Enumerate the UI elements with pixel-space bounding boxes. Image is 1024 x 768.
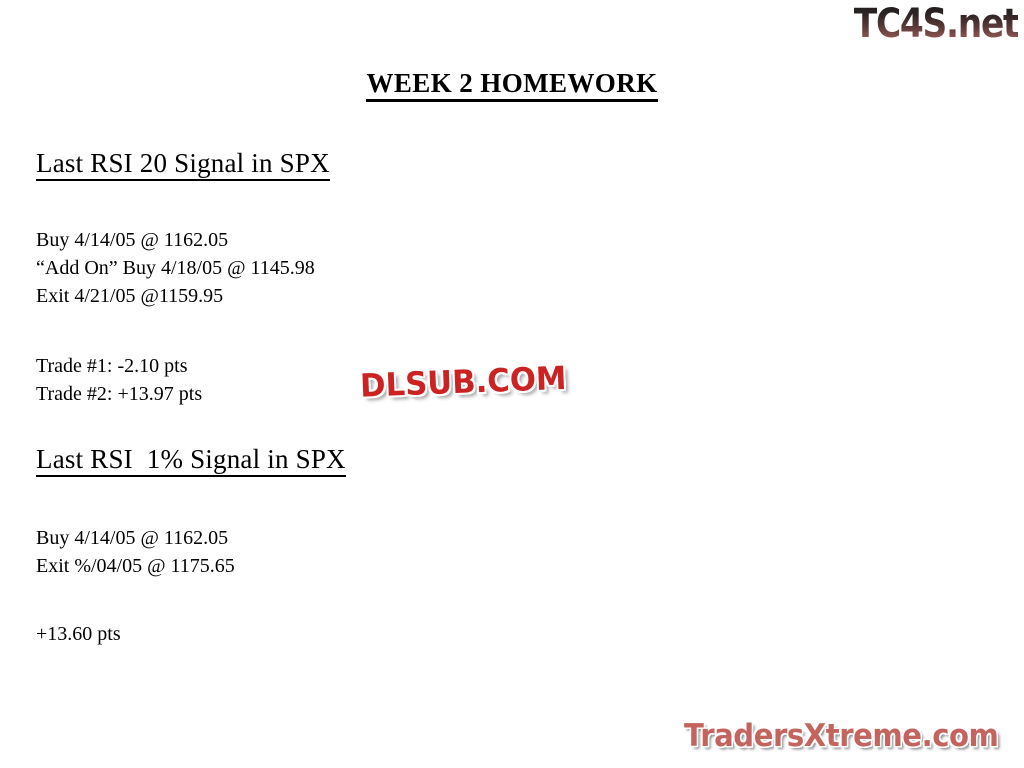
trade-line: Exit %/04/05 @ 1175.65: [36, 552, 235, 580]
page-title-text: WEEK 2 HOMEWORK: [366, 68, 657, 102]
page-title: WEEK 2 HOMEWORK: [0, 68, 1024, 99]
result-list-rsi-20: Trade #1: -2.10 ptsTrade #2: +13.97 pts: [36, 352, 202, 408]
slide-canvas: TC4S.net WEEK 2 HOMEWORK Last RSI 20 Sig…: [0, 0, 1024, 768]
section-heading-rsi-20-text: Last RSI 20 Signal in SPX: [36, 148, 330, 181]
site-logo-text: TradersXtreme.com: [684, 714, 1000, 758]
trade-list-rsi-20: Buy 4/14/05 @ 1162.05“Add On” Buy 4/18/0…: [36, 226, 315, 310]
result-line: Trade #1: -2.10 pts: [36, 352, 202, 380]
watermark-text: DLSUB.COM: [359, 354, 646, 407]
watermark-dlsub: DLSUB.COM: [359, 353, 658, 406]
site-logo-tradersxtreme: TradersXtreme.com: [684, 714, 1020, 758]
trade-line: Buy 4/14/05 @ 1162.05: [36, 524, 235, 552]
trade-list-rsi-1pct: Buy 4/14/05 @ 1162.05Exit %/04/05 @ 1175…: [36, 524, 235, 580]
trade-line: “Add On” Buy 4/18/05 @ 1145.98: [36, 254, 315, 282]
section-heading-rsi-20: Last RSI 20 Signal in SPX: [36, 148, 330, 179]
result-list-rsi-1pct: +13.60 pts: [36, 620, 121, 648]
brand-logo-tc4s: TC4S.net: [854, 2, 1018, 46]
section-heading-rsi-1pct-text: Last RSI 1% Signal in SPX: [36, 444, 346, 477]
result-line: +13.60 pts: [36, 620, 121, 648]
section-heading-rsi-1pct: Last RSI 1% Signal in SPX: [36, 444, 346, 475]
trade-line: Buy 4/14/05 @ 1162.05: [36, 226, 315, 254]
trade-line: Exit 4/21/05 @1159.95: [36, 282, 315, 310]
result-line: Trade #2: +13.97 pts: [36, 380, 202, 408]
